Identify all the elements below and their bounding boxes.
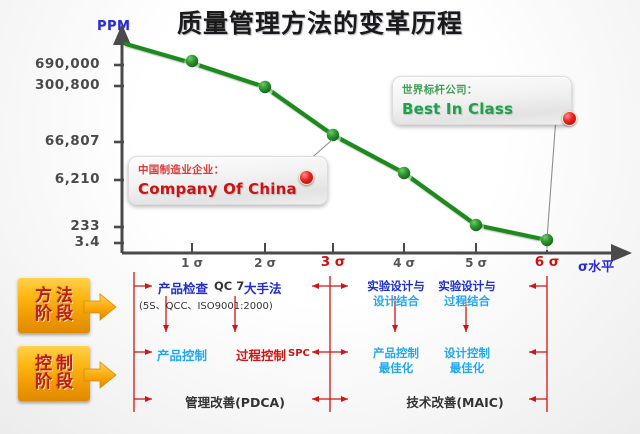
bottom-row-left: 管理改善(PDCA) (160, 392, 310, 411)
x-tick-label-6sigma: 6 σ (527, 254, 567, 270)
x-tick-label-4sigma: 4 σ (384, 256, 424, 270)
best-in-class-marker-dot (562, 111, 577, 126)
callout-best-in-class[interactable]: 世界标杆公司： Best In Class (392, 76, 572, 125)
control-opt-design-line1: 设计控制 (428, 345, 506, 361)
method-right-line2: 过程结合 (428, 293, 506, 309)
method-mid-line2: 设计结合 (357, 293, 435, 309)
stage-control-arrow-icon (83, 358, 117, 392)
callout-china-line1: 中国制造业企业： (138, 162, 318, 177)
stage-method-arrow-icon (83, 290, 117, 324)
method-left-qc: QC 7 (214, 279, 244, 293)
y-tick-label-1: 300,800 (12, 77, 100, 93)
callout-bic-line1: 世界标杆公司： (402, 82, 562, 97)
method-left-big: 大手法 (244, 278, 282, 297)
control-opt-product-line1: 产品控制 (357, 345, 435, 361)
stage-box-method[interactable]: 方法 阶段 (18, 277, 90, 333)
y-tick-label-3: 6,210 (12, 171, 100, 187)
callout-china-line2: Company Of China (138, 180, 318, 198)
leader-line-best-in-class (547, 117, 556, 239)
callout-bic-line2: Best In Class (402, 100, 562, 118)
stage-control-line2: 阶段 (31, 373, 77, 391)
control-opt-design-line2: 最佳化 (428, 360, 506, 376)
stage-method-line2: 阶段 (31, 305, 77, 323)
y-tick-label-4: 233 (12, 218, 100, 234)
y-tick-label-0: 690,000 (12, 56, 100, 72)
stage-control-line1: 控制 (31, 355, 77, 373)
x-tick-label-3sigma: 3 σ (313, 254, 353, 270)
method-right-line1: 实验设计与 (428, 278, 506, 294)
x-tick-label-2sigma: 2 σ (245, 256, 285, 270)
x-axis-title: σ水平 (578, 256, 614, 275)
control-product-control: 产品控制 (157, 345, 207, 364)
y-axis (114, 42, 124, 253)
stage-method-line1: 方法 (31, 287, 77, 305)
slide-canvas: 质量管理方法的变革历程 PPM (0, 0, 640, 434)
control-process-control-spc: SPC (288, 348, 310, 359)
method-mid-line1: 实验设计与 (357, 278, 435, 294)
x-tick-label-1sigma: 1 σ (172, 256, 212, 270)
china-marker-dot (299, 170, 314, 185)
callout-company-of-china[interactable]: 中国制造业企业： Company Of China (128, 156, 328, 205)
method-left-sub: (5S、QCC、ISO9001:2000) (139, 297, 273, 312)
stage-box-control[interactable]: 控制 阶段 (18, 345, 90, 401)
bottom-row-right: 技术改善(MAIC) (380, 392, 530, 411)
method-left-main: 产品检查 (158, 278, 208, 297)
control-process-control: 过程控制 (236, 345, 286, 364)
control-opt-product-line2: 最佳化 (357, 360, 435, 376)
x-tick-label-5sigma: 5 σ (456, 256, 496, 270)
y-tick-label-2: 66,807 (12, 133, 100, 149)
y-tick-label-5: 3.4 (12, 234, 100, 250)
